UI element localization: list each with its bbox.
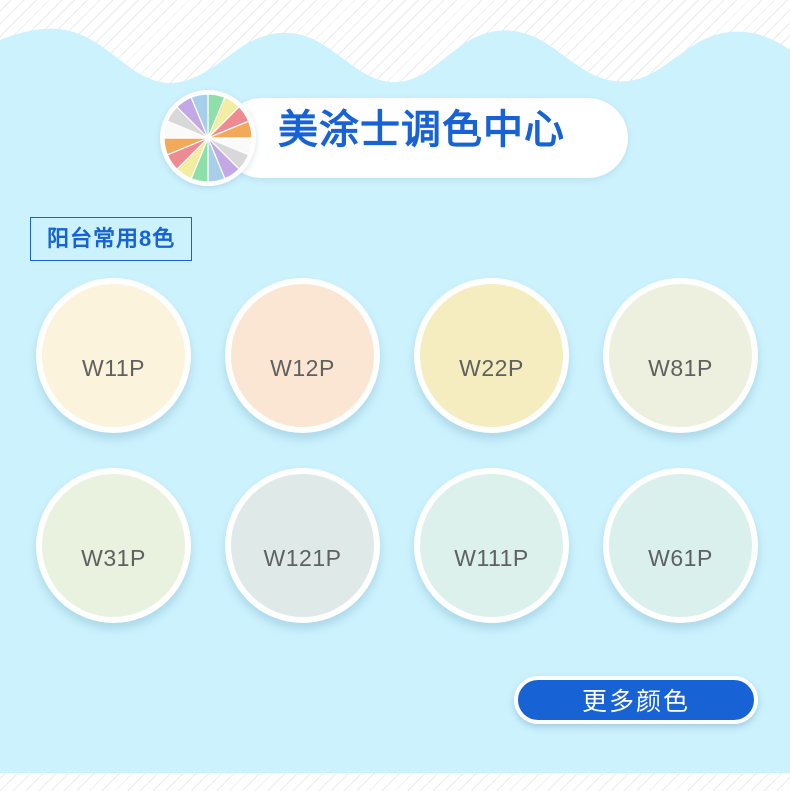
header: 美涂士调色中心 xyxy=(160,90,630,186)
more-colors-button[interactable]: 更多颜色 xyxy=(514,676,758,724)
page-root: 美涂士调色中心 阳台常用8色 W11PW12PW22PW81PW31PW121P… xyxy=(0,0,790,791)
swatch-cell: W81P xyxy=(589,272,778,462)
color-swatch-w31p[interactable]: W31P xyxy=(36,468,191,623)
color-swatch-label: W111P xyxy=(454,545,529,572)
color-swatch-label: W12P xyxy=(270,355,335,382)
color-swatch-label: W22P xyxy=(459,355,524,382)
color-swatch-w61p[interactable]: W61P xyxy=(603,468,758,623)
swatch-cell: W111P xyxy=(400,462,589,652)
hatch-pattern-bottom xyxy=(0,770,790,791)
swatch-cell: W12P xyxy=(211,272,400,462)
color-swatch-label: W81P xyxy=(648,355,713,382)
swatch-cell: W22P xyxy=(400,272,589,462)
swatch-cell: W121P xyxy=(211,462,400,652)
color-swatch-label: W11P xyxy=(82,355,145,382)
color-swatch-label: W31P xyxy=(81,545,146,572)
color-swatch-w111p[interactable]: W111P xyxy=(414,468,569,623)
color-wheel-icon xyxy=(160,90,256,186)
page-title: 美涂士调色中心 xyxy=(278,90,565,170)
swatch-cell: W31P xyxy=(22,462,211,652)
color-swatch-label: W61P xyxy=(648,545,713,572)
swatch-cell: W11P xyxy=(22,272,211,462)
color-swatch-w12p[interactable]: W12P xyxy=(225,278,380,433)
color-swatch-label: W121P xyxy=(264,545,342,572)
swatch-grid: W11PW12PW22PW81PW31PW121PW111PW61P xyxy=(22,272,778,652)
swatch-cell: W61P xyxy=(589,462,778,652)
color-swatch-w121p[interactable]: W121P xyxy=(225,468,380,623)
color-swatch-w11p[interactable]: W11P xyxy=(36,278,191,433)
color-swatch-w81p[interactable]: W81P xyxy=(603,278,758,433)
more-colors-label: 更多颜色 xyxy=(582,682,690,718)
color-swatch-w22p[interactable]: W22P xyxy=(414,278,569,433)
section-badge: 阳台常用8色 xyxy=(30,217,192,261)
